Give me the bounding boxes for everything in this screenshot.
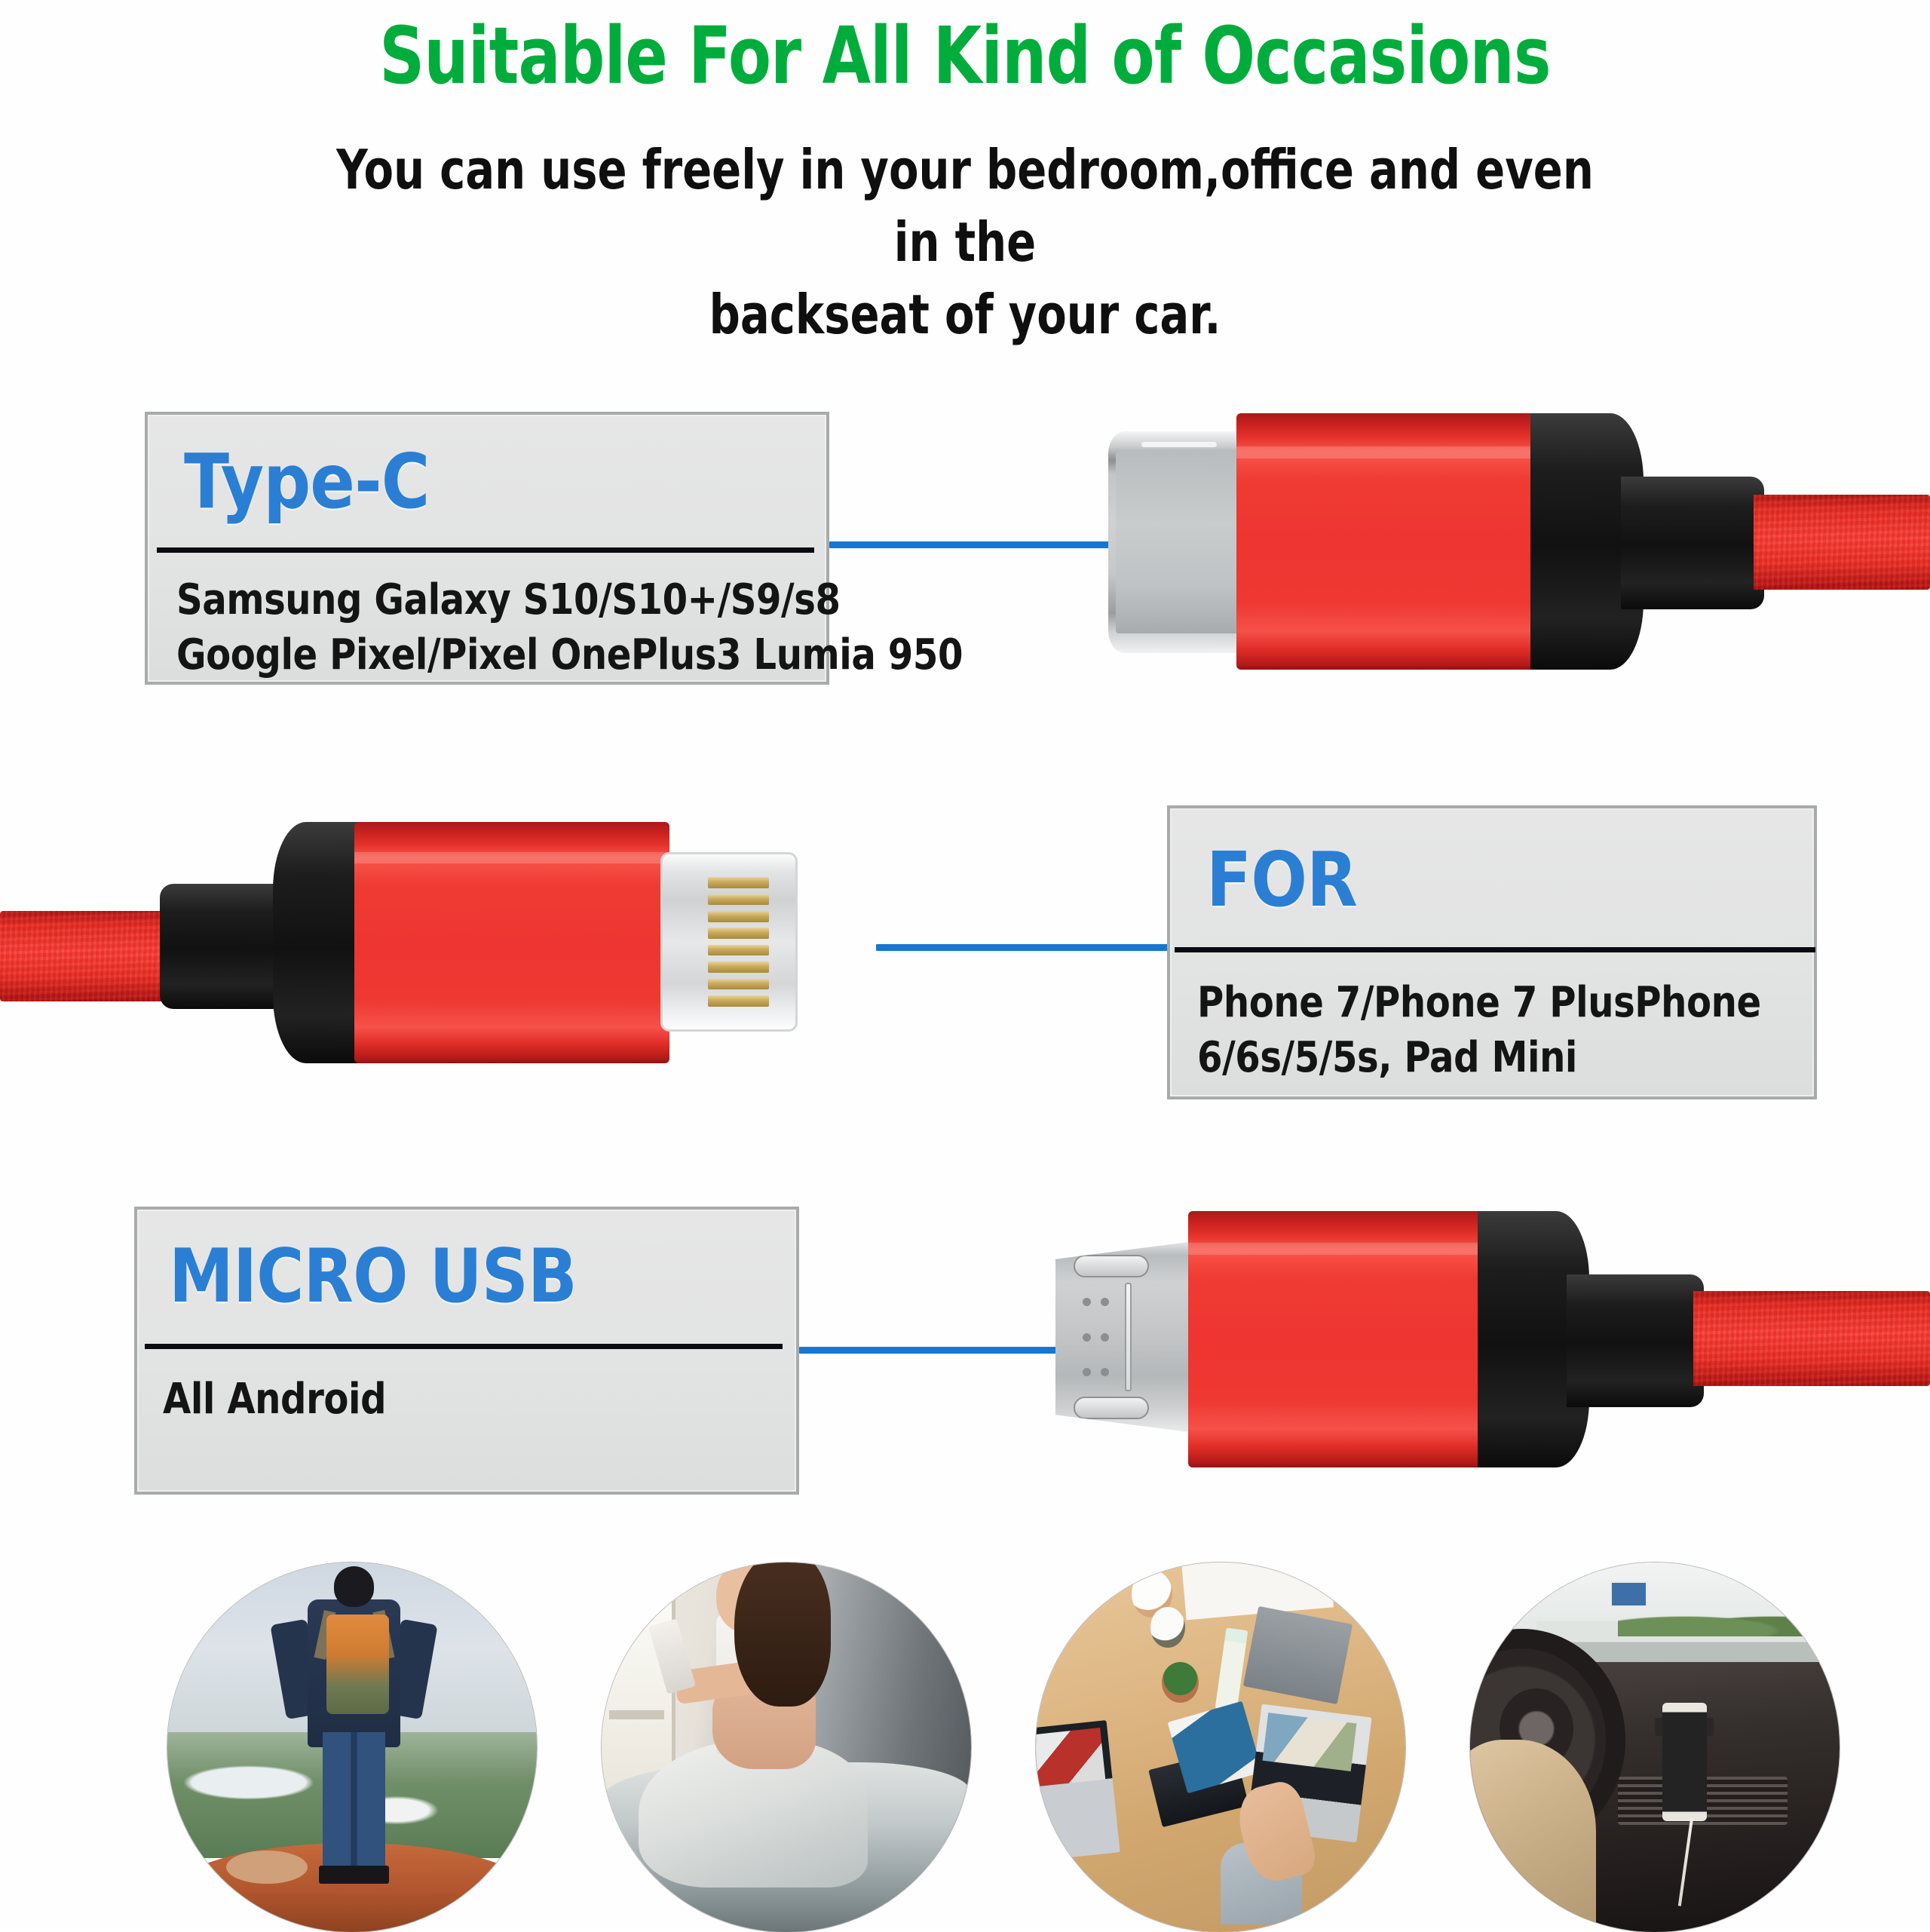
lightning-contact-pads <box>708 877 769 1007</box>
spec-card-type-c-body: Samsung Galaxy S10/S10+/S9/s8 Google Pix… <box>176 573 963 683</box>
page-title: Suitable For All Kind of Occasions <box>193 17 1737 95</box>
lead-line-type-c <box>829 541 1138 548</box>
photo-office <box>1036 1562 1405 1932</box>
photo-car-phone <box>1662 1703 1707 1821</box>
spec-card-for-divider <box>1175 947 1815 952</box>
usb-c-tip-notch-top <box>1141 442 1217 447</box>
micro-usb-strain-relief <box>1478 1211 1704 1467</box>
micro-usb-boot-neck <box>1567 1274 1704 1407</box>
micro-usb-barrel <box>1188 1211 1499 1467</box>
photo-car-trees <box>1618 1607 1840 1636</box>
micro-usb-connector <box>1055 1211 1930 1467</box>
lightning-pad <box>708 945 769 956</box>
lightning-pad <box>708 928 769 939</box>
photo-car-hand-upper <box>1470 1762 1473 1792</box>
photo-office-cup-2 <box>1150 1607 1186 1648</box>
spec-card-micro-usb-body-line-1: All Android <box>163 1372 386 1428</box>
photo-bedroom-hair <box>734 1562 830 1707</box>
micro-usb-tab-top <box>1074 1255 1149 1277</box>
micro-usb-slot <box>1125 1283 1132 1391</box>
spec-card-for-body-line-1: Phone 7/Phone 7 PlusPhone <box>1197 976 1761 1031</box>
lightning-pad <box>708 995 769 1007</box>
micro-usb-barrel-highlight <box>1188 1243 1499 1255</box>
page-subtitle-line-2: backseat of your car. <box>314 279 1616 351</box>
spec-card-for-body: Phone 7/Phone 7 PlusPhone 6/6s/5/5s, Pad… <box>1197 976 1761 1086</box>
spec-card-for-body-line-2: 6/6s/5/5s, Pad Mini <box>1197 1031 1761 1086</box>
photo-bedroom-window-pane <box>609 1710 665 1719</box>
spec-card-for: FOR Phone 7/Phone 7 PlusPhone 6/6s/5/5s,… <box>1167 805 1817 1099</box>
photo-office-laptop-left-screen <box>1036 1728 1104 1789</box>
micro-usb-tip <box>1055 1240 1206 1434</box>
spec-card-type-c: Type-C Samsung Galaxy S10/S10+/S9/s8 Goo… <box>145 412 829 685</box>
usb-c-strain-relief <box>1530 413 1764 670</box>
usb-c-barrel-highlight <box>1236 446 1553 458</box>
photo-car-hand-lower <box>1470 1820 1490 1848</box>
lead-line-micro-usb <box>799 1347 1068 1354</box>
usb-c-barrel <box>1236 413 1553 670</box>
lightning-barrel-highlight <box>354 852 669 863</box>
lead-line-for <box>876 944 1170 951</box>
photo-hiking-head <box>334 1566 375 1607</box>
photo-hiking <box>167 1562 537 1932</box>
spec-card-micro-usb: MICRO USB All Android <box>134 1207 799 1495</box>
micro-usb-tab-bottom <box>1074 1397 1149 1419</box>
photo-bedroom <box>602 1562 971 1932</box>
lightning-pad <box>708 911 769 922</box>
lightning-barrel <box>354 822 669 1063</box>
photo-office-plant <box>1162 1662 1199 1703</box>
photo-office-laptop-top <box>1243 1605 1353 1704</box>
micro-usb-cable <box>1693 1291 1930 1386</box>
usb-c-connector <box>1108 413 1930 670</box>
spec-card-type-c-divider <box>157 547 814 553</box>
lightning-connector <box>0 822 875 1063</box>
photo-hiking-backpack <box>326 1615 389 1714</box>
lightning-pad <box>708 961 769 973</box>
spec-card-micro-usb-divider <box>145 1344 783 1349</box>
usb-c-cable <box>1754 495 1930 590</box>
photo-hiking-legs <box>323 1732 385 1872</box>
page-subtitle: You can use freely in your bedroom,offic… <box>314 134 1616 351</box>
lightning-cable <box>0 911 181 1001</box>
micro-usb-hole <box>1083 1298 1091 1306</box>
photo-car-road-sign <box>1610 1581 1647 1607</box>
micro-usb-hole <box>1101 1368 1109 1376</box>
lightning-pad <box>708 877 769 888</box>
page-subtitle-line-1: You can use freely in your bedroom,offic… <box>314 134 1616 279</box>
usb-c-tip-inner <box>1116 451 1256 633</box>
spec-card-micro-usb-body: All Android <box>163 1372 386 1428</box>
spec-card-for-heading: FOR <box>1206 836 1357 924</box>
lightning-pad <box>708 894 769 906</box>
lightning-tip <box>660 852 798 1032</box>
usb-c-boot-neck <box>1621 477 1764 609</box>
spec-card-micro-usb-heading: MICRO USB <box>169 1234 577 1320</box>
lightning-strain-relief <box>160 822 386 1063</box>
spec-card-type-c-heading: Type-C <box>184 437 429 526</box>
spec-card-type-c-body-line-1: Samsung Galaxy S10/S10+/S9/s8 <box>176 573 963 628</box>
photo-hiking-shoes <box>319 1866 389 1884</box>
spec-card-type-c-body-line-2: Google Pixel/Pixel OnePlus3 Lumia 950 <box>176 628 963 683</box>
lightning-pad <box>708 979 769 990</box>
micro-usb-hole <box>1101 1298 1109 1306</box>
micro-usb-hole <box>1101 1333 1109 1342</box>
micro-usb-hole <box>1083 1333 1091 1342</box>
micro-usb-hole <box>1083 1368 1091 1376</box>
photo-car <box>1470 1562 1840 1932</box>
